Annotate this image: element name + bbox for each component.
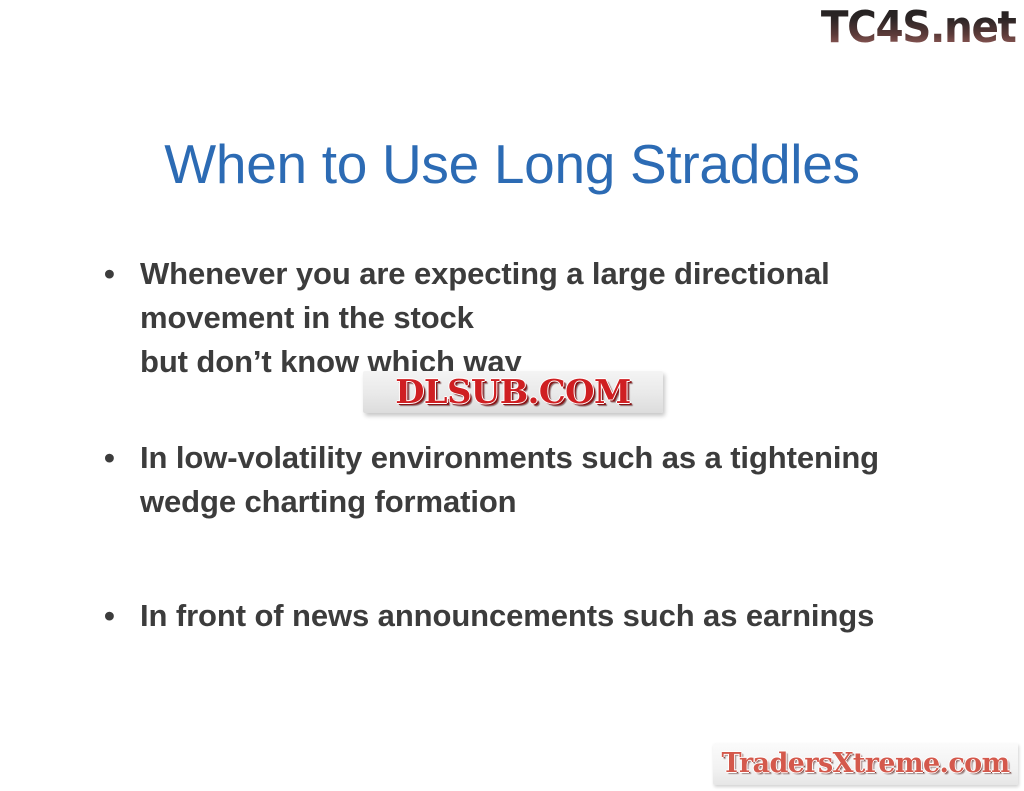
watermark-tradersxtreme-label: TradersXtreme.com [713, 743, 1018, 785]
watermark-dlsub-label: DLSUB.COM [363, 371, 663, 413]
bullet-line: movement in the stock [140, 296, 956, 340]
bullet-dot-icon: • [104, 436, 126, 480]
bullet-item: • Whenever you are expecting a large dir… [96, 252, 956, 384]
watermark-tradersxtreme: TradersXtreme.com [713, 743, 1018, 785]
presentation-slide: When to Use Long Straddles • Whenever yo… [0, 0, 1024, 791]
bullet-dot-icon: • [104, 594, 126, 638]
slide-title: When to Use Long Straddles [0, 136, 1024, 194]
bullet-line: In front of news announcements such as e… [140, 594, 956, 638]
bullet-item: • In front of news announcements such as… [96, 594, 956, 638]
watermark-tc4s: TC4S.net [821, 2, 1016, 54]
bullet-line: In low-volatility environments such as a… [140, 436, 956, 480]
bullet-dot-icon: • [104, 252, 126, 296]
watermark-dlsub: DLSUB.COM [363, 371, 663, 413]
bullet-list: • Whenever you are expecting a large dir… [96, 252, 956, 638]
bullet-line: Whenever you are expecting a large direc… [140, 252, 956, 296]
bullet-item: • In low-volatility environments such as… [96, 436, 956, 524]
bullet-line: wedge charting formation [140, 480, 956, 524]
